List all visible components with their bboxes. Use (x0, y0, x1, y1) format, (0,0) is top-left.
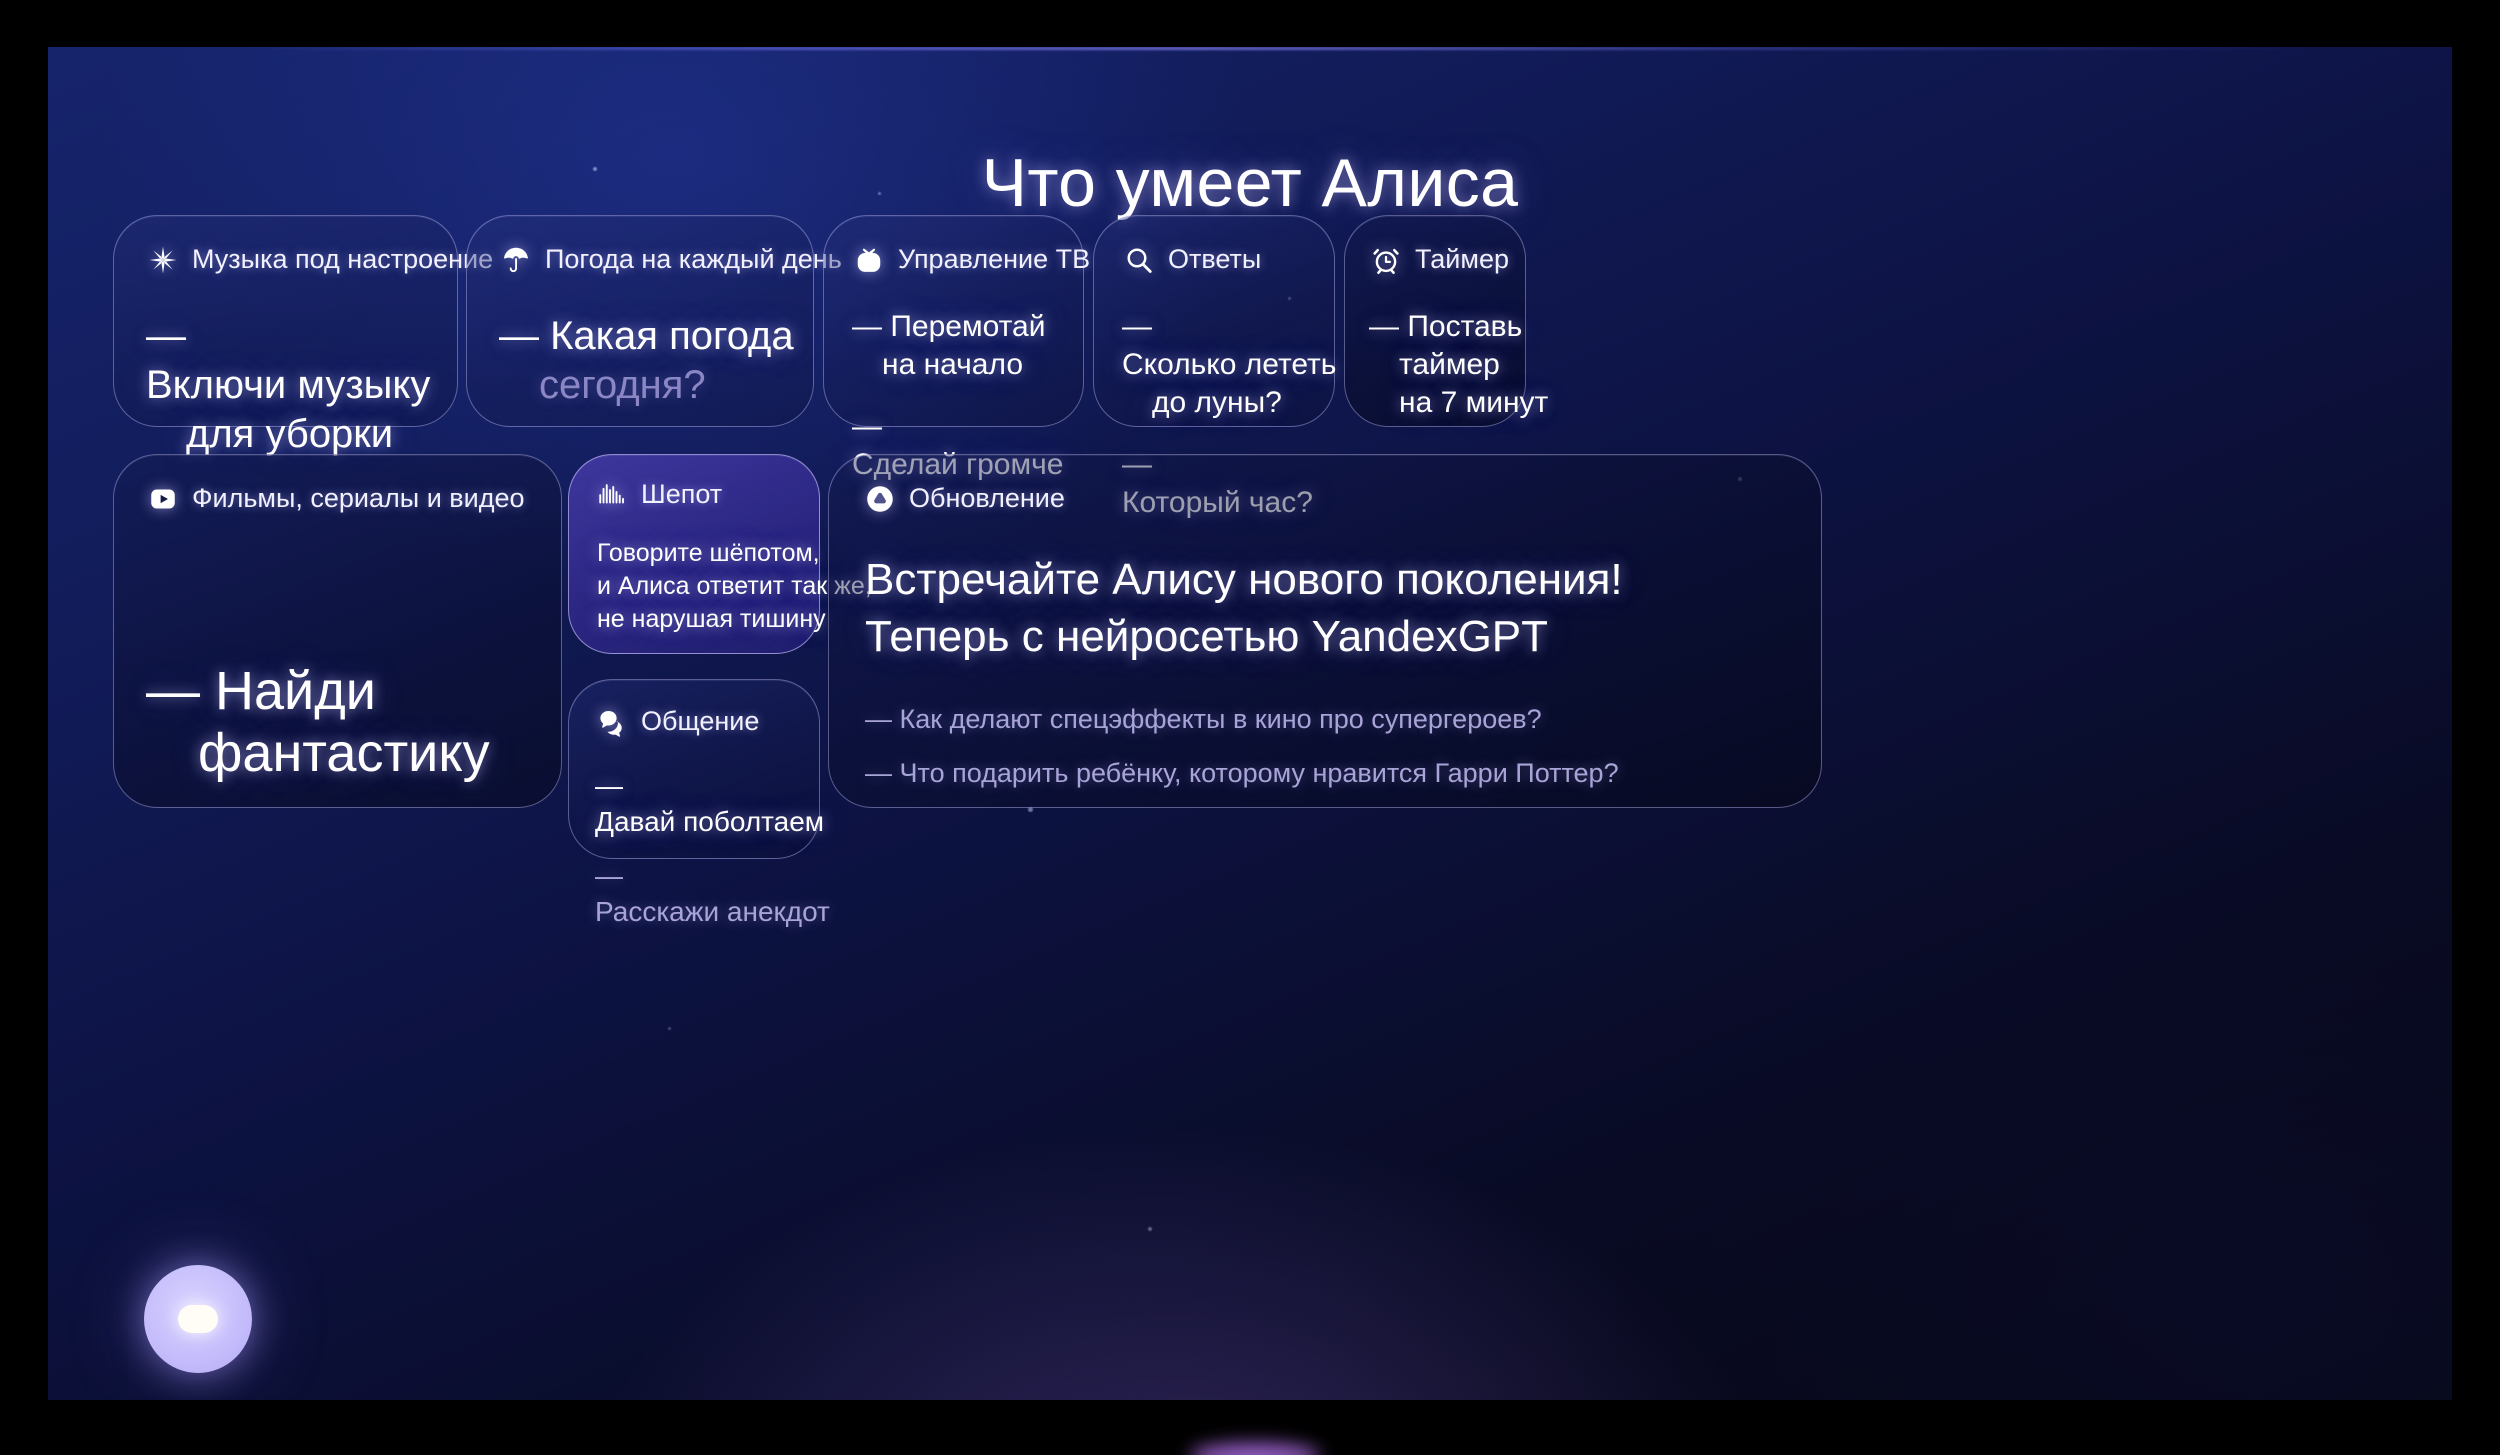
alarm-clock-icon (1371, 245, 1401, 275)
star-speck (1148, 1227, 1152, 1231)
headline-line-2: Теперь с нейросетью YandexGPT (865, 608, 1623, 665)
card-update-headline: Встречайте Алису нового поколения! Тепер… (865, 551, 1623, 665)
card-weather-label: Погода на каждый день (545, 244, 842, 275)
quote-text: Сколько лететь (1122, 348, 1336, 381)
tv-bezel: Что умеет Алиса Музыка под настроение — … (0, 0, 2500, 1455)
card-update-examples: — Как делают спецэффекты в кино про супе… (865, 702, 1619, 790)
card-answers-header: Ответы (1124, 244, 1261, 275)
waveform-icon (597, 480, 627, 510)
example-text: Что подарить ребёнку, которому нравится … (900, 758, 1619, 788)
umbrella-icon (501, 245, 531, 275)
quote-dash: — (146, 312, 186, 361)
card-whisper[interactable]: Шепот Говорите шёпотом, и Алиса ответит … (568, 454, 820, 654)
quote-text: для уборки (186, 412, 393, 456)
play-video-icon (148, 484, 178, 514)
card-chat-quotes: — Давай поболтаем — Расскажи анекдот (595, 768, 830, 930)
quote-text: Включи музыку (146, 363, 430, 407)
card-timer[interactable]: Таймер — Поставь таймер на 7 минут (1344, 215, 1526, 427)
card-music[interactable]: Музыка под настроение — Включи музыку дл… (113, 215, 458, 427)
card-weather-header: Погода на каждый день (501, 244, 842, 275)
panel-sheen (48, 47, 2452, 50)
quote-dash: — (1369, 308, 1399, 346)
example-text: Как делают спецэффекты в кино про суперг… (900, 704, 1542, 734)
tv-icon (854, 245, 884, 275)
quote-text: таймер (1399, 348, 1500, 381)
card-music-header: Музыка под настроение (148, 244, 493, 275)
quote-text: Поставь (1407, 310, 1522, 343)
quote-text: Расскажи анекдот (595, 896, 830, 927)
quote-text: сегодня? (539, 363, 706, 407)
quote-text: Перемотай (890, 310, 1045, 343)
card-answers-label: Ответы (1168, 244, 1261, 275)
card-music-label: Музыка под настроение (192, 244, 493, 275)
tv-led-glow (1190, 1443, 1320, 1455)
card-tv[interactable]: Управление ТВ — Перемотай на начало — Сд… (823, 215, 1084, 427)
quote-dash: — (595, 858, 623, 894)
card-movies[interactable]: Фильмы, сериалы и видео — Найди фантасти… (113, 454, 562, 808)
example-dash: — (865, 702, 892, 736)
card-timer-label: Таймер (1415, 244, 1509, 275)
quote-dash: — (595, 768, 623, 804)
card-update[interactable]: Обновление Встречайте Алису нового покол… (828, 454, 1822, 808)
card-movies-quotes: — Найди фантастику (146, 660, 490, 784)
quote-text: Найди (215, 661, 376, 721)
alice-capabilities-screen: Что умеет Алиса Музыка под настроение — … (48, 47, 2452, 1400)
quote-text: до луны? (1152, 386, 1282, 419)
sparkle-icon (148, 245, 178, 275)
card-weather-quotes: — Какая погода сегодня? (499, 312, 794, 410)
chat-bubbles-icon (597, 707, 627, 737)
alice-listening-indicator[interactable] (144, 1265, 252, 1373)
headline-line-1: Встречайте Алису нового поколения! (865, 551, 1623, 608)
card-movies-header: Фильмы, сериалы и видео (148, 483, 525, 514)
card-update-label: Обновление (909, 483, 1065, 514)
quote-text: на начало (882, 348, 1023, 381)
quote-text: Какая погода (550, 314, 794, 358)
card-timer-header: Таймер (1371, 244, 1509, 275)
quote-text: фантастику (198, 723, 490, 783)
card-music-quotes: — Включи музыку для уборки (146, 312, 457, 459)
quote-text: Давай поболтаем (595, 806, 824, 837)
card-answers[interactable]: Ответы — Сколько лететь до луны? — Котор… (1093, 215, 1335, 427)
card-timer-quotes: — Поставь таймер на 7 минут (1369, 308, 1548, 422)
star-speck (668, 1027, 671, 1030)
droplet-icon (865, 484, 895, 514)
quote-dash: — (852, 408, 882, 446)
alice-pill-icon (178, 1305, 218, 1333)
card-update-header: Обновление (865, 483, 1065, 514)
card-chat-header: Общение (597, 706, 759, 737)
card-whisper-header: Шепот (597, 479, 722, 510)
quote-dash: — (146, 660, 200, 722)
page-title: Что умеет Алиса (48, 144, 2452, 222)
search-icon (1124, 245, 1154, 275)
card-weather[interactable]: Погода на каждый день — Какая погода сег… (466, 215, 814, 427)
card-tv-header: Управление ТВ (854, 244, 1090, 275)
card-chat-label: Общение (641, 706, 759, 737)
quote-dash: — (499, 312, 539, 361)
card-movies-label: Фильмы, сериалы и видео (192, 483, 525, 514)
quote-dash: — (1122, 308, 1152, 346)
card-chat[interactable]: Общение — Давай поболтаем — Расскажи ане… (568, 679, 820, 859)
quote-text: на 7 минут (1399, 386, 1548, 419)
card-tv-label: Управление ТВ (898, 244, 1090, 275)
card-whisper-label: Шепот (641, 479, 722, 510)
example-dash: — (865, 756, 892, 790)
quote-dash: — (852, 308, 882, 346)
